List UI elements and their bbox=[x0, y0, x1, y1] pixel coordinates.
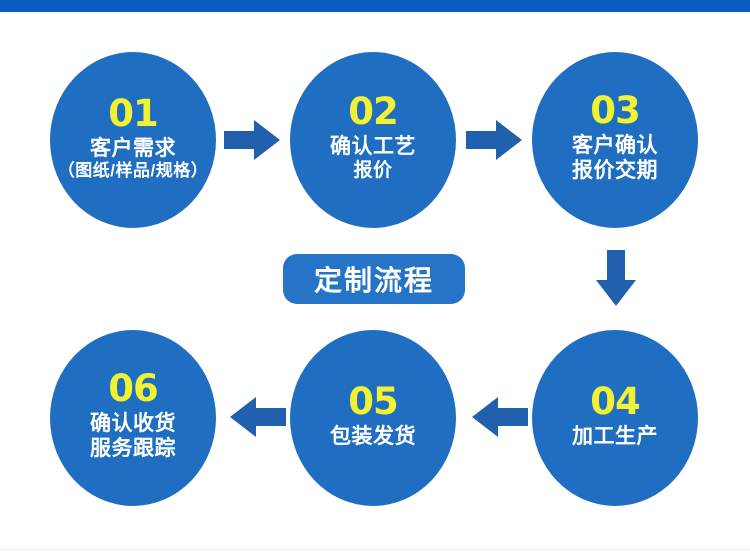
step-label-group-03: 客户确认 报价交期 bbox=[572, 134, 658, 184]
arrow-shaft bbox=[496, 408, 528, 426]
arrow-shaft bbox=[254, 408, 286, 426]
step-number-03: 03 bbox=[590, 92, 640, 129]
arrow-head bbox=[254, 120, 280, 160]
arrow-right-icon-01-to-02 bbox=[224, 120, 280, 160]
arrow-head bbox=[472, 397, 498, 437]
arrow-left-icon-05-to-06 bbox=[230, 397, 286, 437]
step-label-05-line1: 包装发货 bbox=[330, 425, 416, 450]
step-number-04: 04 bbox=[590, 383, 640, 420]
step-label-06-line1: 确认收货 bbox=[90, 412, 176, 437]
step-label-03-line2: 报价交期 bbox=[572, 159, 658, 184]
top-accent-bar bbox=[0, 0, 750, 12]
arrow-shaft bbox=[607, 250, 625, 282]
flow-diagram-canvas: 01 客户需求 （图纸/样品/规格） 02 确认工艺 报价 03 客户确认 报价… bbox=[0, 0, 750, 553]
arrow-shaft bbox=[466, 131, 498, 149]
step-node-06[interactable]: 06 确认收货 服务跟踪 bbox=[50, 330, 216, 506]
arrow-right-icon-02-to-03 bbox=[466, 120, 522, 160]
arrow-head bbox=[596, 280, 636, 306]
arrow-down-icon-03-to-04 bbox=[596, 250, 636, 306]
step-label-01-line1: 客户需求 bbox=[58, 137, 208, 162]
step-node-04[interactable]: 04 加工生产 bbox=[532, 330, 698, 506]
center-title-badge: 定制流程 bbox=[283, 254, 465, 304]
step-node-01[interactable]: 01 客户需求 （图纸/样品/规格） bbox=[50, 52, 216, 228]
step-number-01: 01 bbox=[108, 95, 158, 132]
bottom-divider bbox=[0, 549, 750, 550]
step-node-02[interactable]: 02 确认工艺 报价 bbox=[290, 52, 456, 228]
step-number-05: 05 bbox=[348, 383, 398, 420]
step-label-02-line2: 报价 bbox=[330, 160, 416, 182]
step-label-group-04: 加工生产 bbox=[572, 425, 658, 450]
arrow-head bbox=[496, 120, 522, 160]
arrow-left-icon-04-to-05 bbox=[472, 397, 528, 437]
step-label-01-line2: （图纸/样品/规格） bbox=[58, 161, 208, 181]
step-label-group-05: 包装发货 bbox=[330, 425, 416, 450]
step-label-group-06: 确认收货 服务跟踪 bbox=[90, 412, 176, 462]
step-label-group-01: 客户需求 （图纸/样品/规格） bbox=[58, 137, 208, 182]
arrow-shaft bbox=[224, 131, 256, 149]
arrow-head bbox=[230, 397, 256, 437]
step-node-03[interactable]: 03 客户确认 报价交期 bbox=[532, 52, 698, 228]
center-title-text: 定制流程 bbox=[314, 259, 434, 299]
step-number-02: 02 bbox=[348, 93, 398, 130]
step-label-03-line1: 客户确认 bbox=[572, 134, 658, 159]
step-label-04-line1: 加工生产 bbox=[572, 425, 658, 450]
step-label-group-02: 确认工艺 报价 bbox=[330, 135, 416, 182]
step-label-06-line2: 服务跟踪 bbox=[90, 437, 176, 462]
step-number-06: 06 bbox=[108, 370, 158, 407]
step-label-02-line1: 确认工艺 bbox=[330, 135, 416, 160]
step-node-05[interactable]: 05 包装发货 bbox=[290, 330, 456, 506]
